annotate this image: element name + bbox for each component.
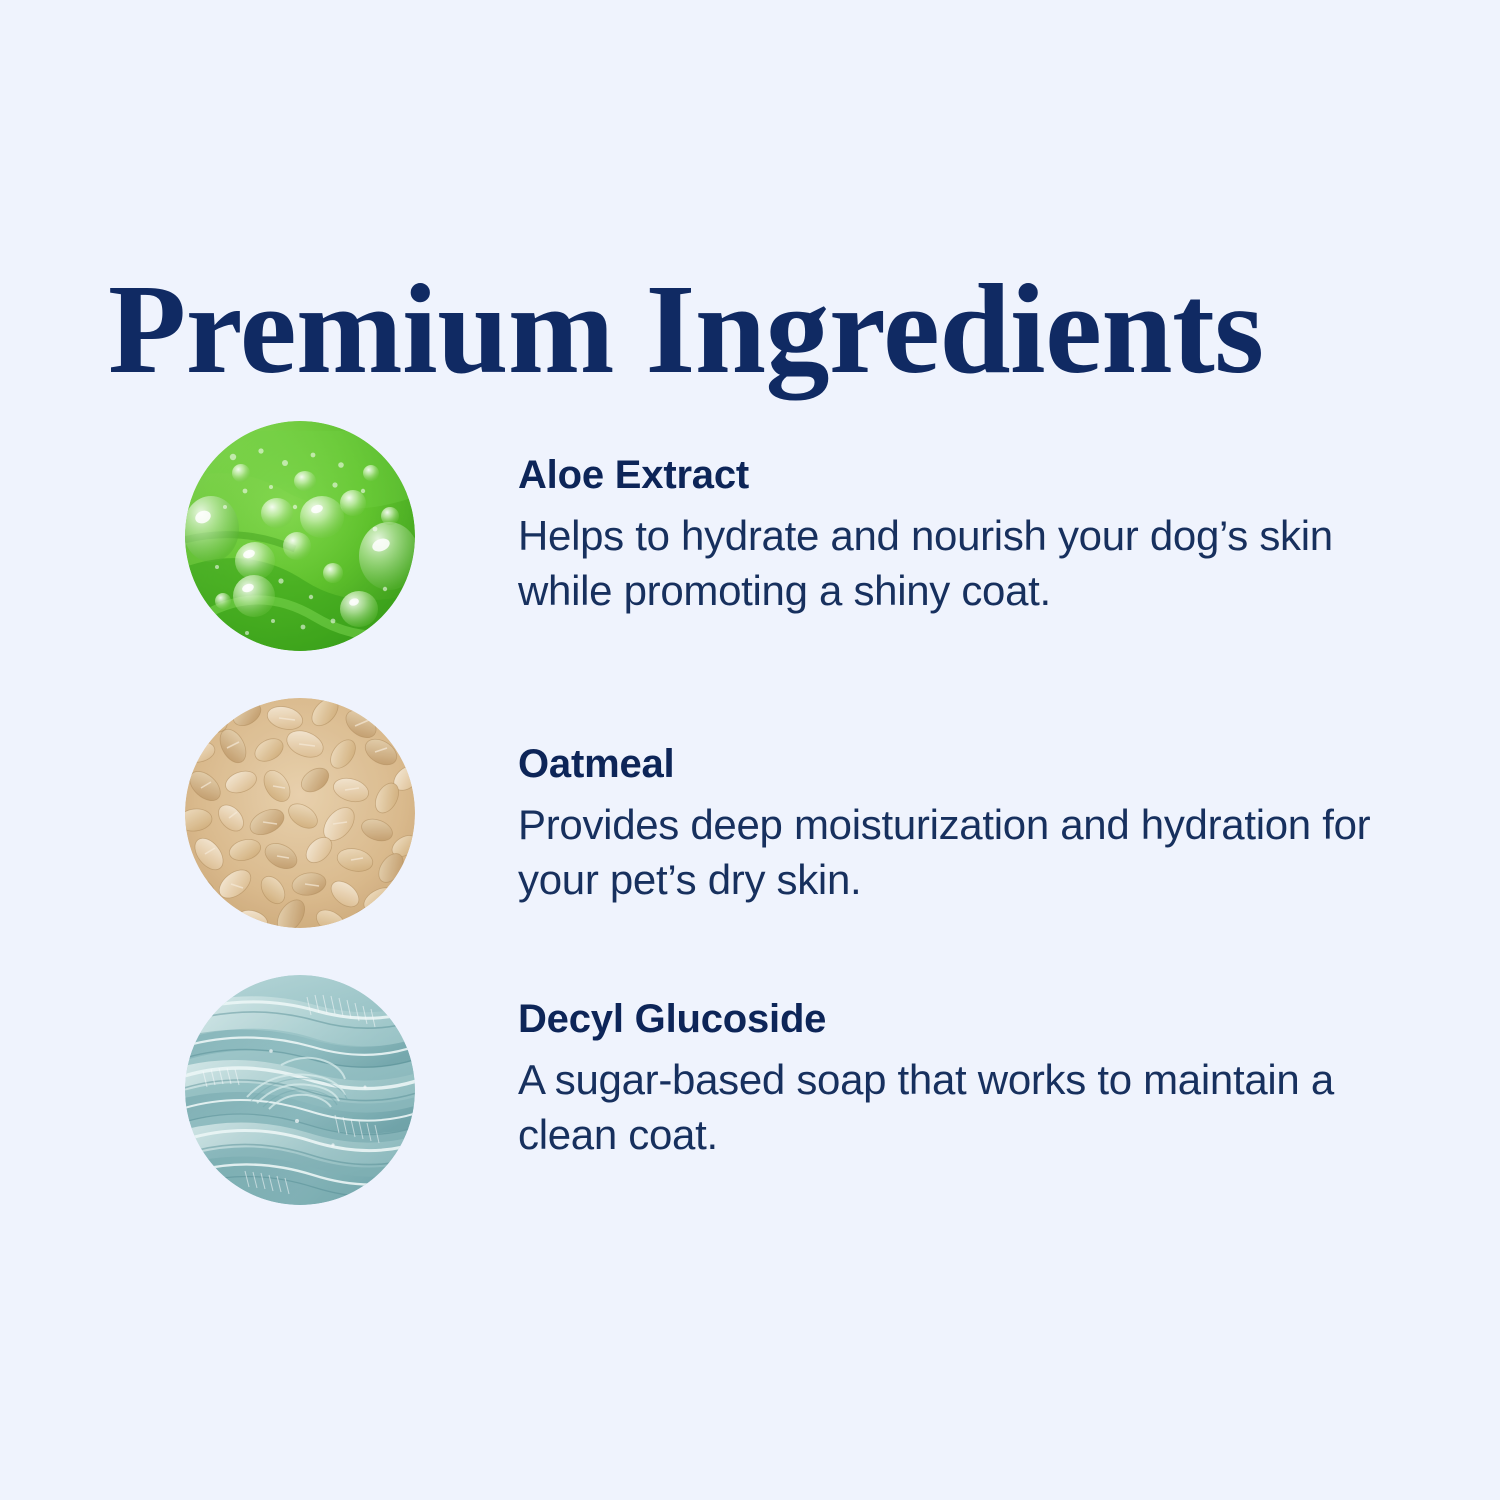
teal-gel-texture-photo — [185, 975, 415, 1205]
ingredient-description: A sugar-based soap that works to maintai… — [518, 1052, 1418, 1163]
rolled-oats-photo — [185, 698, 415, 928]
aloe-leaf-water-droplets-photo — [185, 421, 415, 651]
ingredient-title: Aloe Extract — [518, 454, 1418, 496]
ingredient-description: Helps to hydrate and nourish your dog’s … — [518, 508, 1418, 619]
ingredient-text-block: Decyl Glucoside A sugar-based soap that … — [518, 998, 1418, 1163]
ingredient-list: Aloe Extract Helps to hydrate and nouris… — [0, 421, 1500, 1252]
ingredient-description: Provides deep moisturization and hydrati… — [518, 797, 1418, 908]
list-item: Decyl Glucoside A sugar-based soap that … — [0, 975, 1500, 1252]
page-title: Premium Ingredients — [108, 264, 1408, 395]
list-item: Aloe Extract Helps to hydrate and nouris… — [0, 421, 1500, 698]
ingredient-title: Decyl Glucoside — [518, 998, 1418, 1040]
ingredient-text-block: Oatmeal Provides deep moisturization and… — [518, 743, 1418, 908]
list-item: Oatmeal Provides deep moisturization and… — [0, 698, 1500, 975]
ingredient-title: Oatmeal — [518, 743, 1418, 785]
ingredient-text-block: Aloe Extract Helps to hydrate and nouris… — [518, 454, 1418, 619]
ingredients-infographic: Premium Ingredients — [0, 0, 1500, 1500]
